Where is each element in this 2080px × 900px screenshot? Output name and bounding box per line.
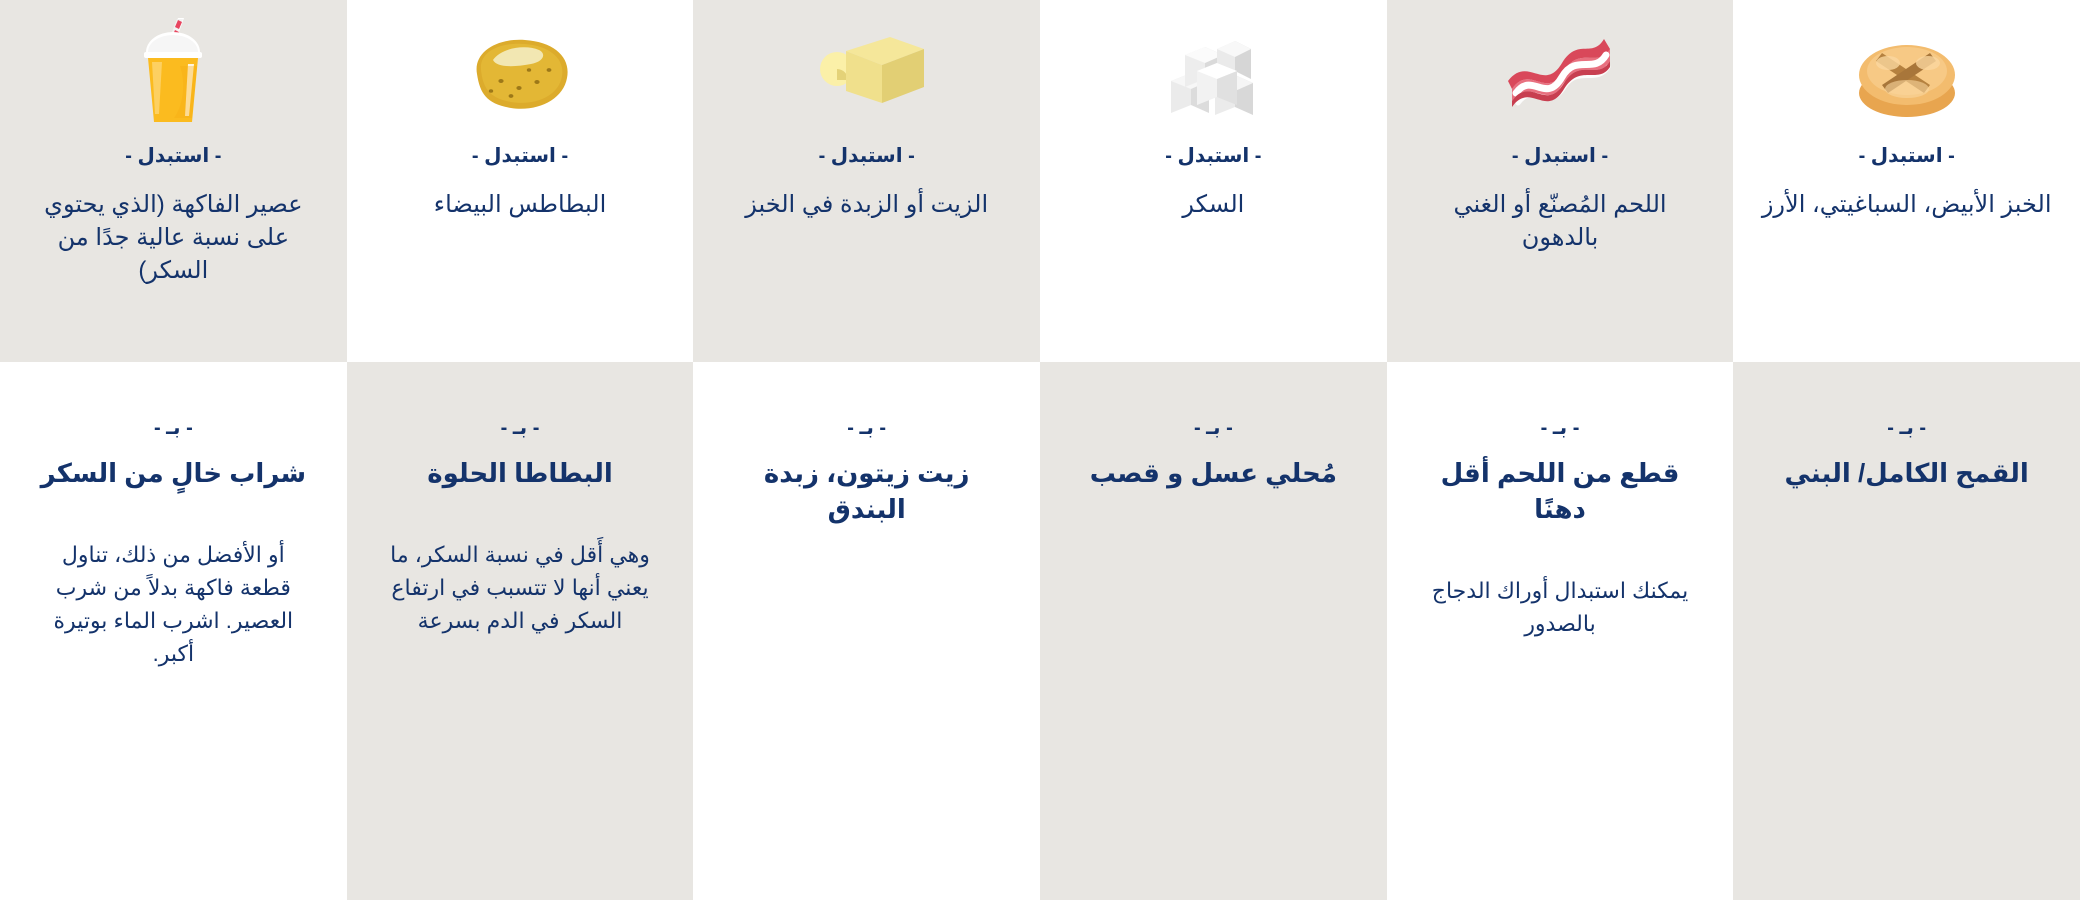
bottom-panel-1: - بـ - القمح الكامل/ البني [1733, 362, 2080, 900]
arrow-notch [482, 360, 558, 362]
swap-label: - استبدل - [1512, 146, 1608, 166]
bottom-panel-4: - بـ - زيت زيتون، زبدة البندق [693, 362, 1040, 900]
swap-infographic-board: - استبدل - الخبز الأبيض، السباغيتي، الأر… [0, 0, 2080, 900]
top-panel-3: - استبدل - السكر [1040, 0, 1387, 362]
swap-to-text: القمح الكامل/ البني [1785, 456, 2029, 492]
bottom-panel-2: - بـ - قطع من اللحم أقل دهنًا يمكنك استب… [1387, 362, 1734, 900]
swap-from-text: الزيت أو الزبدة في الخبز [745, 188, 988, 221]
bottom-panel-6: - بـ - شراب خالٍ من السكر أو الأفضل من ذ… [0, 362, 347, 900]
swap-label: - استبدل - [125, 146, 221, 166]
potato-icon [463, 14, 578, 132]
juice-cup-icon [128, 14, 218, 132]
bacon-strip-icon [1500, 14, 1620, 132]
swap-note: أو الأفضل من ذلك، تناول قطعة فاكهة بدلاً… [38, 538, 308, 670]
swap-to-text: شراب خالٍ من السكر [41, 456, 306, 492]
swap-label: - استبدل - [1859, 146, 1955, 166]
top-panel-5: - استبدل - البطاطس البيضاء [347, 0, 694, 362]
swap-from-text: عصير الفاكهة (الذي يحتوي على نسبة عالية … [26, 188, 321, 287]
top-panel-6: - استبدل - عصير الفاكهة (الذي يحتوي على … [0, 0, 347, 362]
arrow-notch [1522, 360, 1598, 362]
swap-note: وهي أَقل في نسبة السكر، ما يعني أنها لا … [385, 538, 655, 637]
top-panel-1: - استبدل - الخبز الأبيض، السباغيتي، الأر… [1733, 0, 2080, 362]
bread-loaf-icon [1852, 14, 1962, 132]
butter-block-icon [802, 14, 932, 132]
swap-to-text: البطاطا الحلوة [427, 456, 613, 492]
arrow-notch [135, 360, 211, 362]
swap-from-text: السكر [1182, 188, 1244, 221]
with-label: - بـ - [847, 418, 886, 438]
swap-to-text: قطع من اللحم أقل دهنًا [1415, 456, 1705, 528]
swap-label: - استبدل - [472, 146, 568, 166]
bottom-panel-5: - بـ - البطاطا الحلوة وهي أَقل في نسبة ا… [347, 362, 694, 900]
arrow-notch [1869, 360, 1945, 362]
arrow-notch [829, 360, 905, 362]
swap-from-text: اللحم المُصنّع أو الغني بالدهون [1413, 188, 1708, 254]
with-label: - بـ - [1194, 418, 1233, 438]
swap-to-text: زيت زيتون، زبدة البندق [722, 456, 1012, 528]
with-label: - بـ - [1541, 418, 1580, 438]
top-panel-2: - استبدل - اللحم المُصنّع أو الغني بالده… [1387, 0, 1734, 362]
with-label: - بـ - [154, 418, 193, 438]
swap-note: يمكنك استبدال أوراك الدجاج بالصدور [1425, 574, 1695, 640]
swap-from-text: البطاطس البيضاء [434, 188, 606, 221]
swap-from-text: الخبز الأبيض، السباغيتي، الأرز [1762, 188, 2052, 221]
swap-label: - استبدل - [819, 146, 915, 166]
top-panel-4: - استبدل - الزيت أو الزبدة في الخبز [693, 0, 1040, 362]
swap-to-text: مُحلي عسل و قصب [1090, 456, 1337, 492]
arrow-notch [1175, 360, 1251, 362]
with-label: - بـ - [1887, 418, 1926, 438]
swap-label: - استبدل - [1165, 146, 1261, 166]
bottom-panel-3: - بـ - مُحلي عسل و قصب [1040, 362, 1387, 900]
with-label: - بـ - [501, 418, 540, 438]
sugar-cubes-icon [1153, 14, 1273, 132]
